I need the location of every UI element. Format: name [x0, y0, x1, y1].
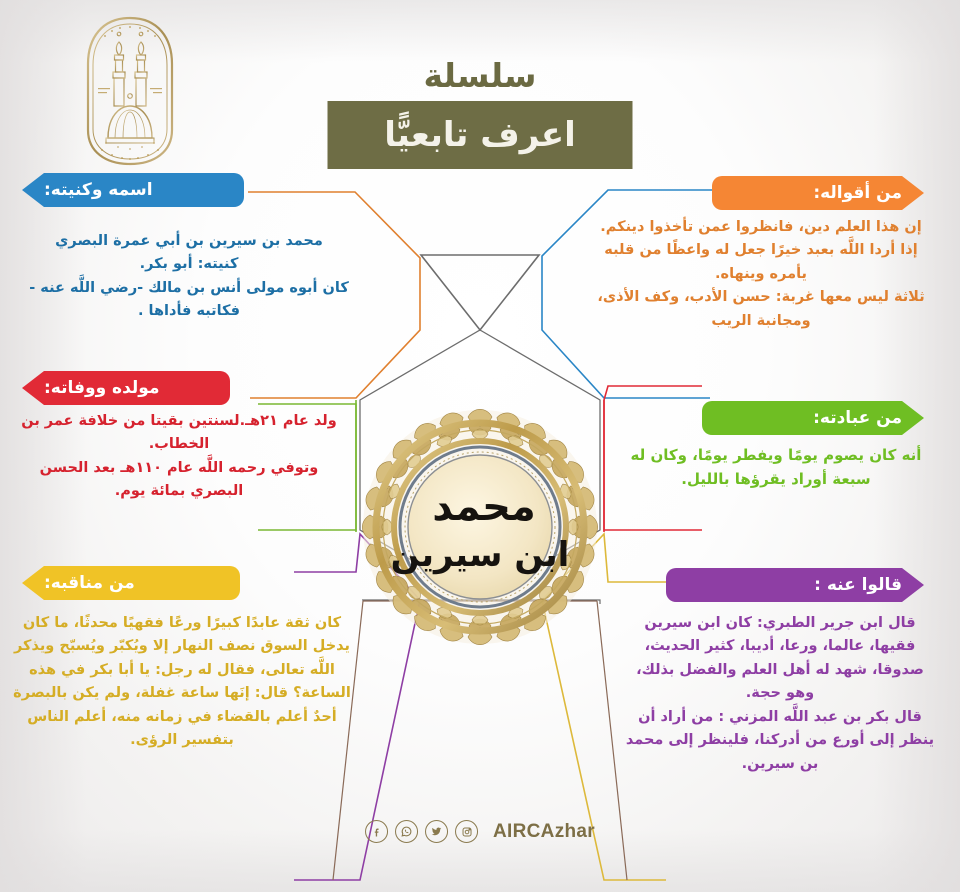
medallion-name-line1: محمد — [432, 484, 536, 530]
heading-text: اسمه وكنيته: — [44, 180, 153, 200]
paragraph: كان ثقة عابدًا كبيرًا ورعًا فقهيًا محدثً… — [12, 612, 352, 753]
paragraph: قال ابن جرير الطبري: كان ابن سيرين فقيها… — [620, 612, 940, 706]
section-body-said-about: قال ابن جرير الطبري: كان ابن سيرين فقيها… — [620, 612, 940, 776]
paragraph: إن هذا العلم دين، فانظروا عمن تأخذوا دين… — [586, 216, 936, 239]
paragraph: إذا أردا اللَّه بعبد خيرًا جعل له واعظًا… — [586, 239, 936, 286]
section-heading-worship: من عبادته: — [702, 401, 924, 435]
heading-text: من أقواله: — [813, 183, 902, 203]
social-handle: AIRCAzhar — [493, 821, 595, 843]
facebook-icon[interactable] — [365, 820, 388, 843]
heading-text: من عبادته: — [813, 408, 902, 428]
section-body-sayings: إن هذا العلم دين، فانظروا عمن تأخذوا دين… — [586, 216, 936, 333]
section-body-virtues: كان ثقة عابدًا كبيرًا ورعًا فقهيًا محدثً… — [12, 612, 352, 753]
center-medallion: محمد ابن سيرين — [361, 408, 599, 646]
section-heading-said-about: قالوا عنه : — [666, 568, 924, 602]
social-links: AIRCAzhar — [365, 820, 595, 843]
medallion-name-line2: ابن سيرين — [391, 535, 570, 575]
section-heading-virtues: من مناقبه: — [22, 566, 240, 600]
paragraph: وتوفي رحمه اللَّه عام ١١٠هـ بعد الحسن ال… — [14, 457, 344, 504]
section-heading-birth-death: مولده ووفاته: — [22, 371, 230, 405]
paragraph: كنيته: أبو بكر. — [14, 253, 364, 276]
paragraph: محمد بن سيرين بن أبي عمرة البصري — [14, 230, 364, 253]
paragraph: أنه كان يصوم يومًا ويفطر يومًا، وكان له … — [616, 443, 936, 492]
heading-text: مولده ووفاته: — [44, 378, 159, 398]
section-heading-sayings: من أقواله: — [712, 176, 924, 210]
paragraph: ولد عام ٢١هـ.لسنتين بقيتا من خلافة عمر ب… — [14, 410, 344, 457]
heading-text: من مناقبه: — [44, 573, 135, 593]
paragraph: كان أبوه مولى أنس بن مالك -رضي اللَّه عن… — [14, 277, 364, 324]
twitter-icon[interactable] — [425, 820, 448, 843]
paragraph: ثلاثة ليس معها غربة: حسن الأدب، وكف الأذ… — [586, 286, 936, 333]
instagram-icon[interactable] — [455, 820, 478, 843]
paragraph: قال بكر بن عبد اللَّه المزني : من أراد أ… — [620, 706, 940, 776]
section-body-name: محمد بن سيرين بن أبي عمرة البصريكنيته: أ… — [14, 230, 364, 324]
section-body-worship: أنه كان يصوم يومًا ويفطر يومًا، وكان له … — [616, 443, 936, 492]
heading-text: قالوا عنه : — [814, 575, 902, 595]
section-body-birth-death: ولد عام ٢١هـ.لسنتين بقيتا من خلافة عمر ب… — [14, 410, 344, 504]
section-heading-name: اسمه وكنيته: — [22, 173, 244, 207]
whatsapp-icon[interactable] — [395, 820, 418, 843]
